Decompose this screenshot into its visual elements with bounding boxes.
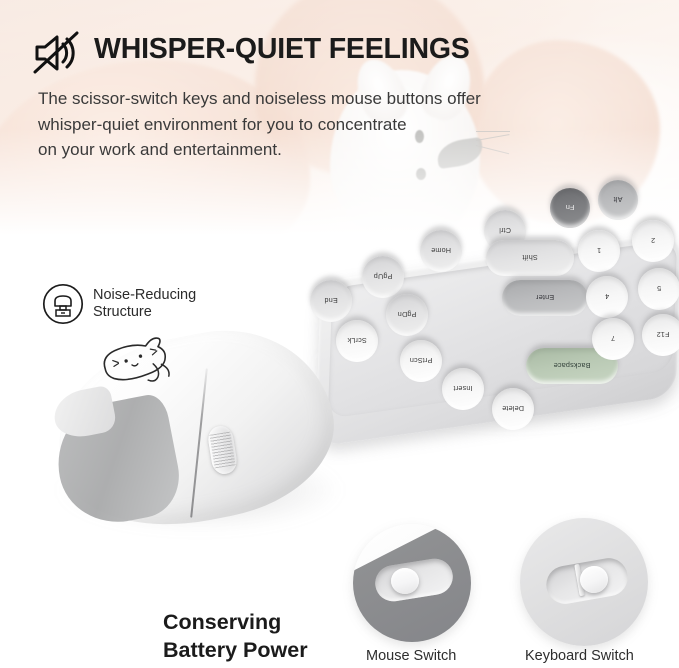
badge-line-1: Noise-Reducing xyxy=(93,287,196,305)
battery-caption-line-2: Battery Power xyxy=(163,636,308,664)
keycap-enter[interactable]: Enter xyxy=(502,280,588,316)
keycap-alt[interactable]: Alt xyxy=(598,180,638,220)
keycap-fn[interactable]: Fn xyxy=(550,188,590,228)
keycap-prtscn[interactable]: PrtScn xyxy=(400,340,442,382)
keycap-label: 2 xyxy=(651,237,655,246)
keycap-label: Delete xyxy=(502,405,524,414)
description-line-3: on your work and entertainment. xyxy=(38,137,558,163)
keycap-1[interactable]: 1 xyxy=(578,230,620,272)
product-feature-image: WHISPER-QUIET FEELINGS The scissor-switc… xyxy=(0,0,679,668)
battery-caption: Conserving Battery Power xyxy=(163,608,308,664)
muted-speaker-icon xyxy=(33,30,81,76)
keycap-pgdn[interactable]: PgDn xyxy=(386,294,428,336)
keycap-label: Ctrl xyxy=(499,227,511,236)
noise-reducing-badge-label: Noise-Reducing Structure xyxy=(93,287,196,322)
keyboard-switch-closeup xyxy=(520,518,648,646)
mouse-switch-knob xyxy=(391,568,419,594)
page-description: The scissor-switch keys and noiseless mo… xyxy=(38,86,558,163)
key-switch-structure-icon xyxy=(42,283,84,325)
keycap-label: Backspace xyxy=(554,362,591,371)
keycap-pgup[interactable]: PgUp xyxy=(362,256,404,298)
battery-caption-line-1: Conserving xyxy=(163,608,308,636)
keycap-label: Alt xyxy=(614,196,623,205)
keycap-end[interactable]: End xyxy=(310,280,352,322)
description-line-2: whisper-quiet environment for you to con… xyxy=(38,112,558,138)
mouse-switch-closeup xyxy=(353,524,471,642)
keycap-label: F12 xyxy=(657,331,670,340)
keycap-5[interactable]: 5 xyxy=(638,268,679,310)
keycap-label: 1 xyxy=(597,247,601,256)
keycap-label: 4 xyxy=(605,293,609,302)
page-headline: WHISPER-QUIET FEELINGS xyxy=(94,33,470,66)
keyboard-switch-caption: Keyboard Switch xyxy=(525,648,634,664)
keycap-insert[interactable]: Insert xyxy=(442,368,484,410)
keycap-label: PrtScn xyxy=(410,357,433,366)
description-line-1: The scissor-switch keys and noiseless mo… xyxy=(38,86,558,112)
keycap-4[interactable]: 4 xyxy=(586,276,628,318)
keycap-label: Insert xyxy=(453,385,472,394)
keycap-label: Shift xyxy=(522,254,537,263)
keycap-label: Fn xyxy=(566,204,575,213)
keycap-label: Home xyxy=(431,247,451,256)
keycap-home[interactable]: Home xyxy=(420,230,462,272)
keycap-label: 5 xyxy=(657,285,661,294)
noise-reducing-badge: Noise-Reducing Structure xyxy=(42,283,196,325)
keycap-delete[interactable]: Delete xyxy=(492,388,534,430)
keycap-f12[interactable]: F12 xyxy=(642,314,679,356)
keycap-shift[interactable]: Shift xyxy=(486,240,574,276)
keycap-label: Enter xyxy=(536,294,554,303)
keycap-label: PgUp xyxy=(374,273,393,282)
keycap-label: End xyxy=(324,297,337,306)
badge-line-2: Structure xyxy=(93,304,196,322)
keycap-label: 7 xyxy=(611,335,615,344)
mouse-product-photo xyxy=(52,330,352,545)
keycap-2[interactable]: 2 xyxy=(632,220,674,262)
mouse-switch-caption: Mouse Switch xyxy=(366,648,456,664)
keyboard-product-photo: FnAltCtrlHomePgUpEndPgDnScrLkPrtScnInser… xyxy=(300,168,679,438)
keycap-7[interactable]: 7 xyxy=(592,318,634,360)
keycap-label: PgDn xyxy=(398,311,417,320)
